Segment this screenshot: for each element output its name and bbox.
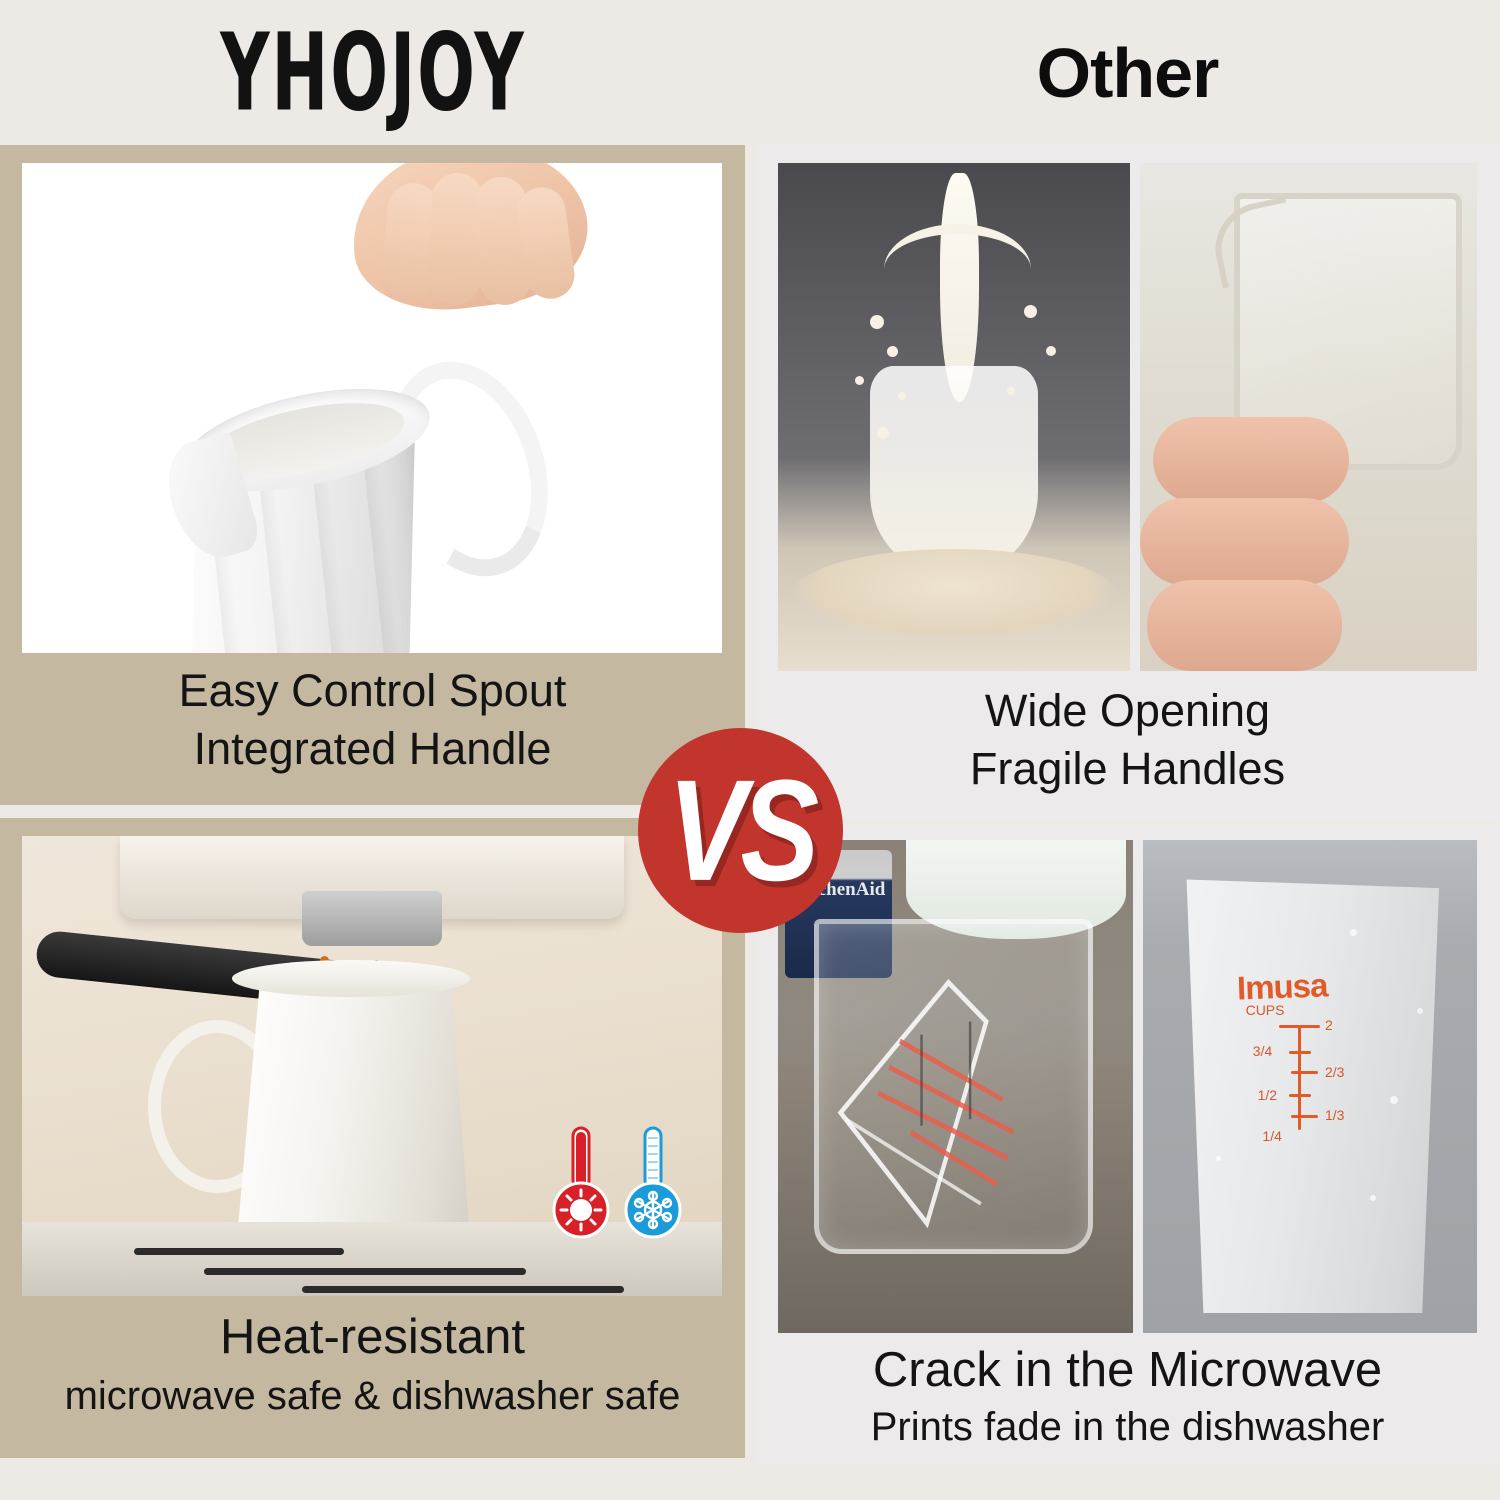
- glass-cup: [870, 366, 1039, 569]
- cell-easy-control-spout: Easy Control Spout Integrated Handle: [0, 145, 745, 805]
- heat-cold-badges: [552, 1126, 682, 1244]
- image-imusa-plastic-cup: Imusa CUPS 2 3/4 2/3 1/2 1/3 1/4: [1143, 840, 1477, 1333]
- other-title: Other: [1037, 38, 1219, 108]
- image-milk-splash: [778, 163, 1130, 671]
- milk-crown: [884, 224, 1032, 315]
- measurement-scale: CUPS 2 3/4 2/3 1/2 1/3 1/4: [1243, 1017, 1363, 1145]
- caption-line-1: Crack in the Microwave: [755, 1343, 1500, 1399]
- crack-lines: [819, 924, 1089, 1249]
- milk-pool: [792, 549, 1116, 640]
- finger: [428, 172, 485, 306]
- caption-line-1: Heat-resistant: [0, 1310, 745, 1366]
- comparison-infographic: YHOJOY Other: [0, 0, 1500, 1500]
- pitcher-body: [232, 974, 470, 1241]
- vs-badge: VS: [638, 728, 843, 933]
- caption-line-1: Wide Opening: [755, 685, 1500, 736]
- hot-thermometer-icon: [552, 1126, 610, 1244]
- finger: [1147, 580, 1342, 671]
- glass-spout: [1207, 196, 1301, 288]
- finger: [1153, 417, 1348, 503]
- cell-crack-in-microwave: KitchenAid: [755, 825, 1500, 1465]
- caption-line-2: Fragile Handles: [755, 743, 1500, 794]
- image-espresso-pour: [22, 836, 722, 1296]
- brand-logo: YHOJOY: [220, 19, 525, 126]
- glass-measuring-cup: [814, 919, 1094, 1254]
- cell-wide-opening: Wide Opening Fragile Handles: [755, 145, 1500, 820]
- group-head: [302, 891, 442, 946]
- caption-line-2: Integrated Handle: [0, 723, 745, 774]
- brand-header: YHOJOY: [0, 0, 745, 145]
- caption-line-2: microwave safe & dishwasher safe: [0, 1374, 745, 1420]
- finger: [1140, 498, 1349, 584]
- caption-line-2: Prints fade in the dishwasher: [755, 1405, 1500, 1451]
- vs-label: VS: [638, 705, 843, 955]
- cold-thermometer-icon: [624, 1126, 682, 1244]
- image-pitcher-in-hand: [22, 163, 722, 653]
- pitcher-rim: [232, 960, 470, 997]
- other-header: Other: [755, 0, 1500, 145]
- caption-line-1: Easy Control Spout: [0, 665, 745, 716]
- cell-heat-resistant: Heat-resistant microwave safe & dishwash…: [0, 818, 745, 1458]
- image-fragile-handle-grip: [1140, 163, 1477, 671]
